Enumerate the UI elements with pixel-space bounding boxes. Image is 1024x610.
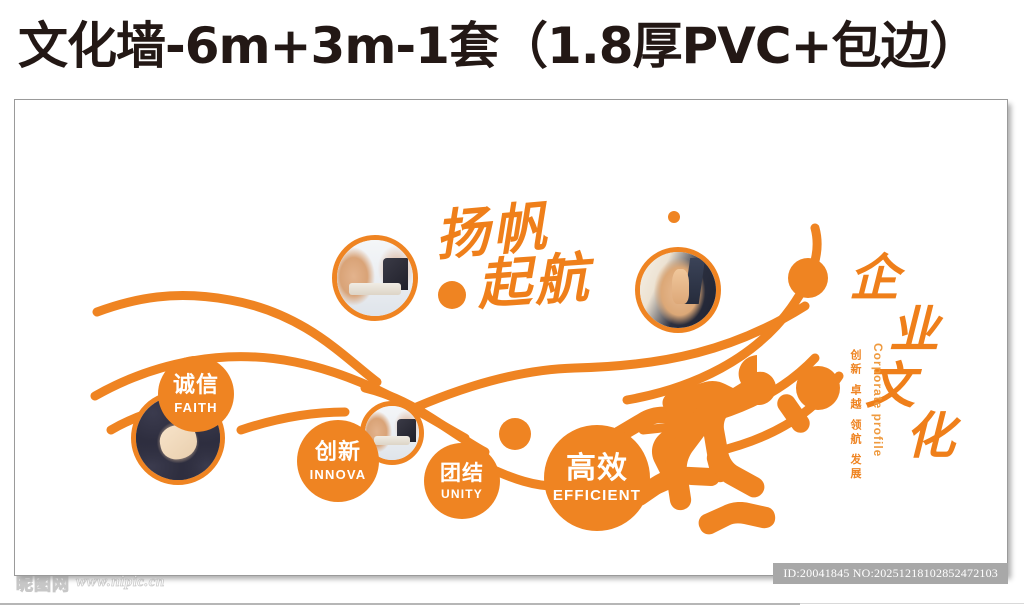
culture-subtitle: 创新 卓越 领航 发展	[847, 349, 863, 482]
footer-divider-segment	[0, 603, 800, 605]
badge-innova[interactable]: 创新 INNOVA	[297, 420, 379, 502]
badge-faith-en: FAITH	[174, 401, 218, 414]
watermark-site-name: 昵图网	[16, 570, 70, 595]
badge-unity[interactable]: 团结 UNITY	[424, 443, 500, 519]
culture-char-2: 业	[889, 305, 939, 355]
asset-id-text: ID:20041845 NO:20251218102852472103	[783, 566, 998, 581]
badge-faith[interactable]: 诚信 FAITH	[158, 356, 234, 432]
photo-bubble-thumbsup[interactable]	[635, 247, 721, 333]
badge-efficient-en: EFFICIENT	[553, 488, 641, 503]
artwork-preview-panel[interactable]: 扬帆 起航 诚信 FAITH 创新 INNOVA	[14, 99, 1008, 576]
badge-efficient-cn: 高效	[566, 454, 628, 484]
asset-id-bar: ID:20041845 NO:20251218102852472103	[773, 563, 1008, 584]
site-watermark: 昵图网 www.nipic.cn	[16, 570, 165, 595]
culture-char-4: 化	[905, 411, 955, 461]
culture-char-1: 企	[849, 253, 899, 303]
badge-faith-cn: 诚信	[173, 375, 219, 397]
page-title: 文化墙-6m+3m-1套（1.8厚PVC+包边）	[18, 21, 978, 71]
badge-unity-cn: 团结	[440, 463, 484, 484]
thumbs-up-businessman-image	[640, 252, 716, 328]
page-root: 文化墙-6m+3m-1套（1.8厚PVC+包边）	[0, 0, 1024, 610]
badge-unity-en: UNITY	[441, 488, 483, 500]
photo-bubble-handshake[interactable]	[332, 235, 418, 321]
badge-innova-en: INNOVA	[310, 468, 367, 481]
culture-wall-canvas: 扬帆 起航 诚信 FAITH 创新 INNOVA	[15, 100, 1008, 576]
culture-english-label: Corporate profile	[871, 343, 885, 457]
page-title-bar: 文化墙-6m+3m-1套（1.8厚PVC+包边）	[0, 0, 1024, 92]
badge-innova-cn: 创新	[315, 442, 361, 464]
badge-efficient[interactable]: 高效 EFFICIENT	[544, 425, 650, 531]
business-handshake-image	[337, 240, 413, 316]
watermark-site-url: www.nipic.cn	[76, 574, 165, 591]
corporate-culture-block: 企 业 文 化 Corporate profile 创新 卓越 领航 发展	[843, 253, 973, 463]
